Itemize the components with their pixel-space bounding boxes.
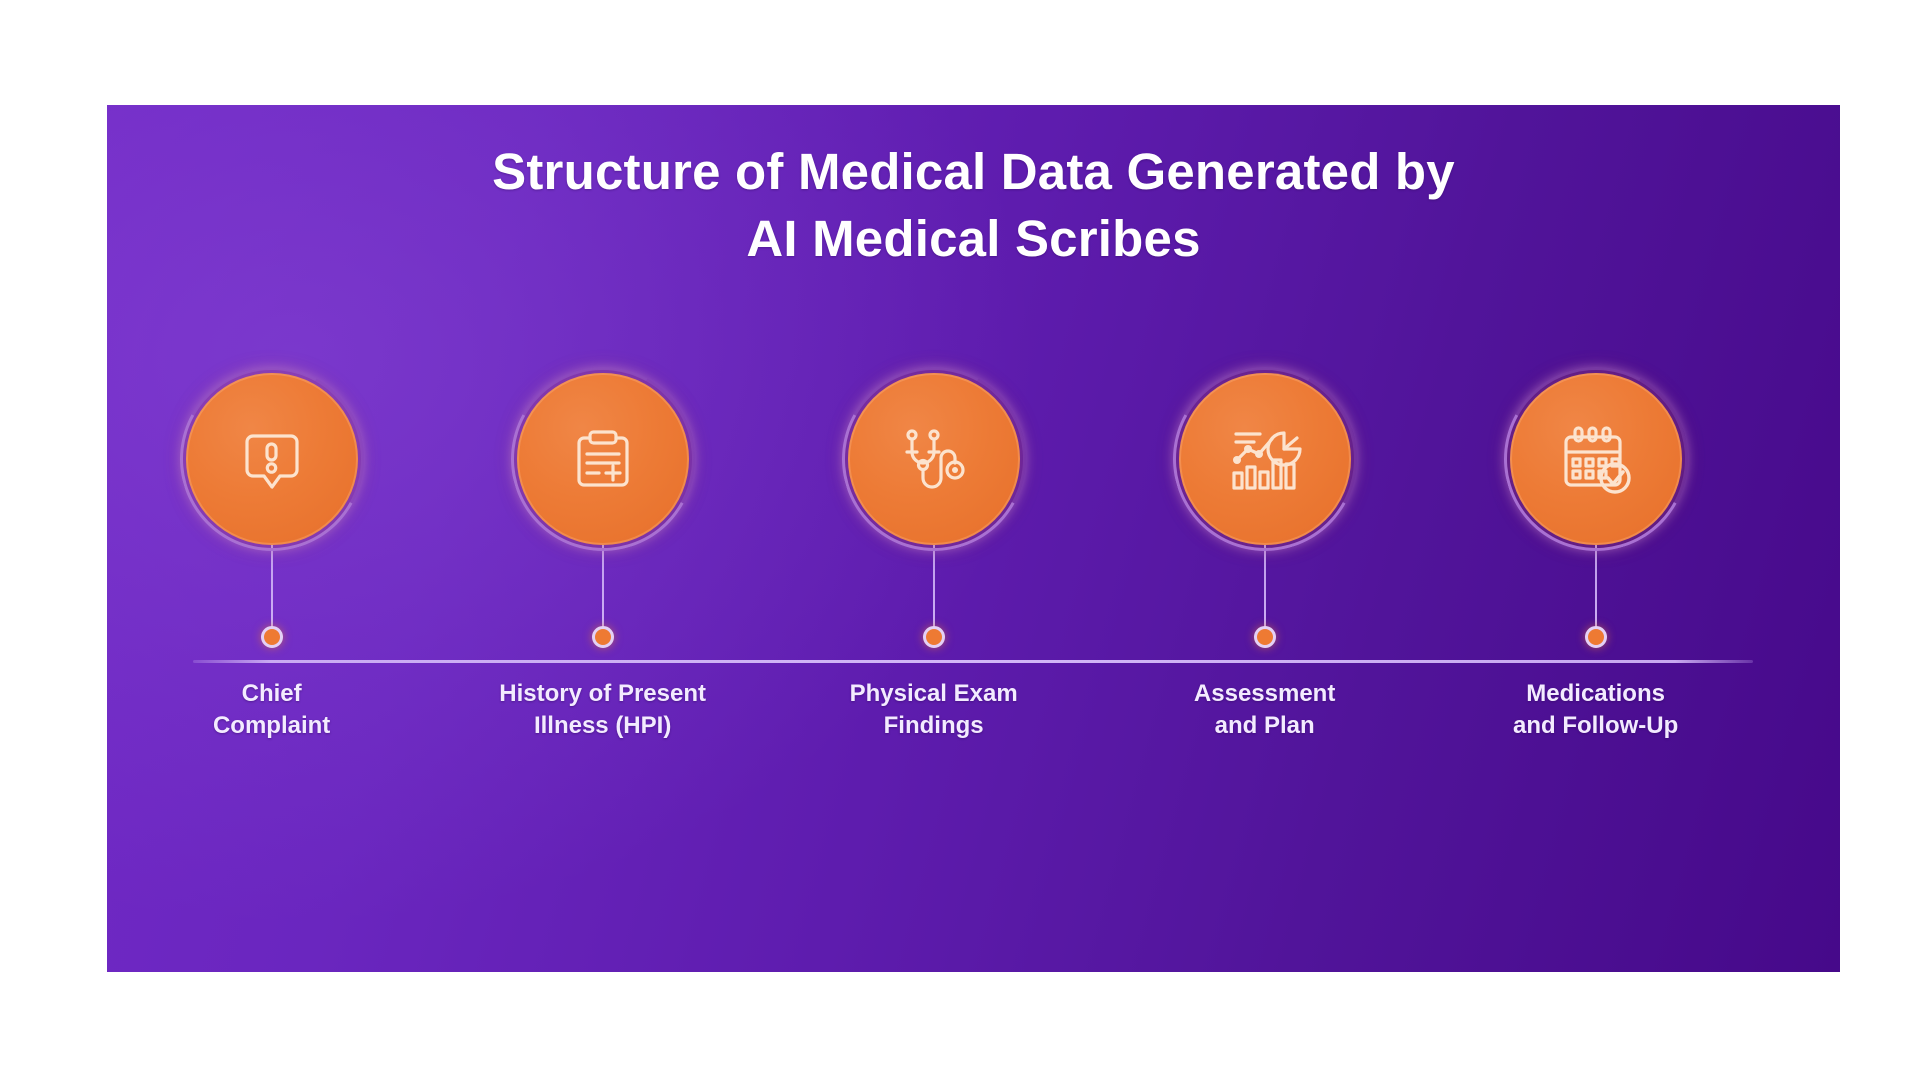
step-5-dot [1585, 626, 1607, 648]
step-3-circle[interactable] [848, 373, 1020, 545]
calendar-check-icon [1553, 416, 1639, 502]
step-4-dot [1254, 626, 1276, 648]
timeline-step-medications-and-follow-up[interactable]: Medications and Follow-Up [1466, 373, 1726, 742]
step-2-circle[interactable] [517, 373, 689, 545]
step-4-label: Assessment and Plan [1194, 678, 1335, 742]
step-5-badge[interactable] [1510, 373, 1682, 545]
step-2-dot [592, 626, 614, 648]
analytics-chart-icon [1222, 416, 1308, 502]
step-3-badge[interactable] [848, 373, 1020, 545]
stethoscope-icon [891, 416, 977, 502]
step-2-stem [602, 545, 604, 637]
step-3-stem [933, 545, 935, 637]
step-3-label: Physical Exam Findings [850, 678, 1018, 742]
timeline-step-history-of-present-illness[interactable]: History of Present Illness (HPI) [473, 373, 733, 742]
step-4-circle[interactable] [1179, 373, 1351, 545]
step-1-label: Chief Complaint [213, 678, 330, 742]
step-2-badge[interactable] [517, 373, 689, 545]
timeline-step-assessment-and-plan[interactable]: Assessment and Plan [1135, 373, 1395, 742]
page-title: Structure of Medical Data Generated by A… [107, 138, 1840, 273]
screenshot-root: Structure of Medical Data Generated by A… [0, 0, 1920, 1080]
speech-bubble-exclamation-icon [229, 416, 315, 502]
step-5-label: Medications and Follow-Up [1513, 678, 1678, 742]
title-line-1: Structure of Medical Data Generated by [107, 138, 1840, 205]
step-1-stem [271, 545, 273, 637]
step-4-badge[interactable] [1179, 373, 1351, 545]
step-1-dot [261, 626, 283, 648]
step-4-stem [1264, 545, 1266, 637]
timeline-step-chief-complaint[interactable]: Chief Complaint [142, 373, 402, 742]
step-5-stem [1595, 545, 1597, 637]
step-1-circle[interactable] [186, 373, 358, 545]
step-2-label: History of Present Illness (HPI) [499, 678, 706, 742]
infographic-canvas: Structure of Medical Data Generated by A… [107, 105, 1840, 972]
clipboard-plus-icon [560, 416, 646, 502]
step-5-circle[interactable] [1510, 373, 1682, 545]
title-line-2: AI Medical Scribes [107, 205, 1840, 272]
step-1-badge[interactable] [186, 373, 358, 545]
step-3-dot [923, 626, 945, 648]
timeline-step-physical-exam-findings[interactable]: Physical Exam Findings [804, 373, 1064, 742]
